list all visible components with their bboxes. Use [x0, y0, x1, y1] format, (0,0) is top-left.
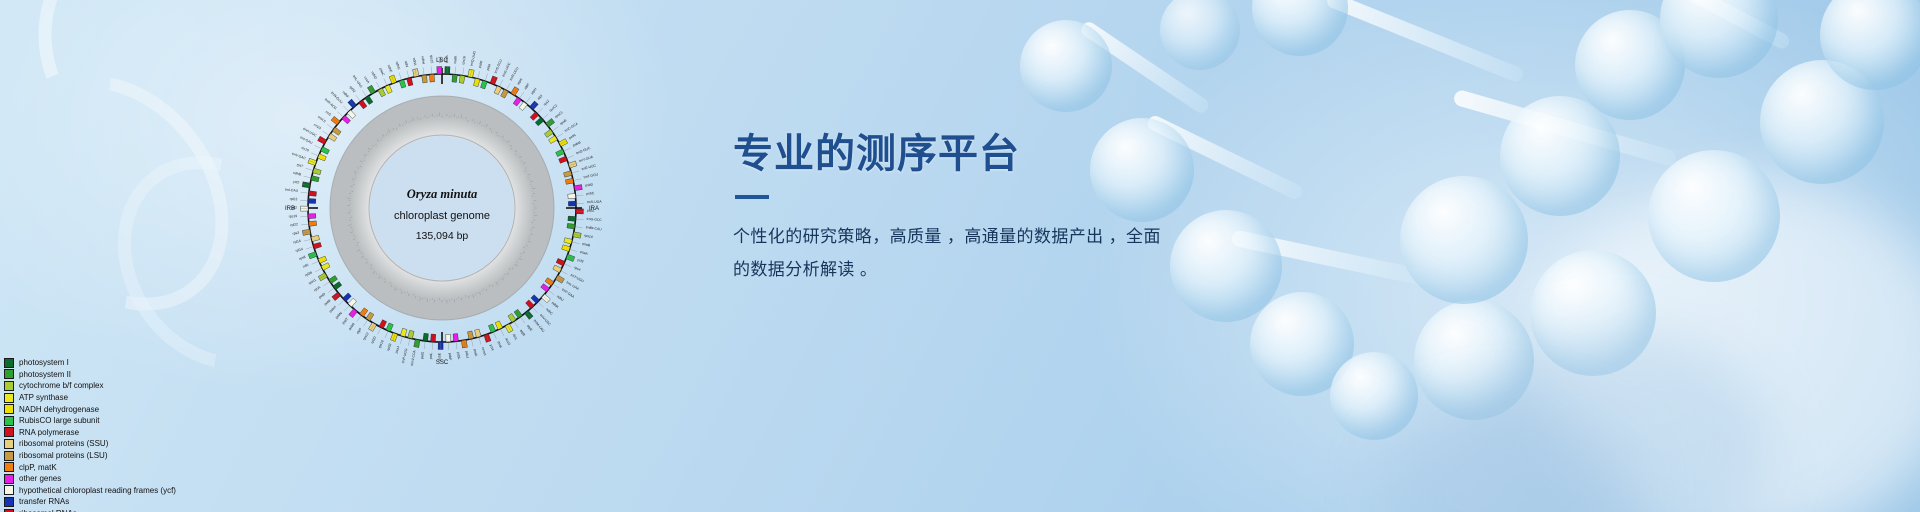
svg-text:chloroplast genome: chloroplast genome	[394, 210, 490, 222]
banner-copy: 专业的测序平台 个性化的研究策略，高质量 ，高通量的数据产出 ，全面 的数据分析…	[733, 132, 1433, 286]
genome-gene-label: ndhK	[551, 301, 560, 310]
genome-gene-label: ccsA	[363, 76, 371, 85]
genome-feature-box	[562, 245, 571, 252]
genome-leader-line	[304, 176, 311, 178]
legend-item: ribosomal RNAs	[4, 508, 334, 512]
genome-gene-label: rpoA	[313, 285, 322, 293]
genome-leader-line	[543, 114, 548, 119]
genome-feature-box	[400, 328, 407, 337]
legend-swatch-icon	[4, 497, 14, 507]
genome-gene-label: petG	[420, 351, 425, 359]
genome-gene-label: matK	[453, 55, 458, 64]
genome-feature-box	[408, 330, 414, 338]
legend-swatch-icon	[4, 462, 14, 472]
genome-gene-label: psbT	[341, 317, 349, 325]
genome-gene-label: ycf4	[489, 344, 495, 351]
genome-leader-line	[520, 92, 524, 98]
genome-gene-label: ndhJ	[556, 294, 565, 302]
legend-swatch-icon	[4, 439, 14, 449]
genome-feature-box	[467, 331, 473, 339]
genome-leader-line	[526, 97, 530, 102]
genome-leader-line	[343, 106, 348, 111]
genome-feature-box	[423, 333, 429, 341]
genome-feature-box	[567, 223, 575, 229]
genome-gene-label: rps4	[574, 265, 582, 271]
genome-feature-box	[431, 334, 436, 342]
genome-leader-line	[564, 148, 570, 151]
genome-leader-line	[573, 242, 580, 244]
genome-leader-line	[306, 247, 313, 249]
genome-feature-box	[318, 256, 327, 263]
legend-swatch-icon	[4, 427, 14, 437]
genome-gene-label: rpl22	[290, 222, 298, 227]
genome-gene-label: trnY-GUA	[579, 155, 595, 164]
genome-gene-label: trnD-GUC	[576, 146, 592, 155]
genome-leader-line	[328, 288, 334, 292]
svg-text:Oryza minuta: Oryza minuta	[407, 187, 478, 201]
banner-subtext: 个性化的研究策略，高质量 ，高通量的数据产出 ，全面 的数据分析解读 。	[733, 220, 1263, 286]
page-title: 专业的测序平台	[733, 132, 1433, 176]
genome-gene-label: trnT-GGU	[583, 172, 599, 179]
genome-feature-box	[564, 238, 572, 244]
genome-gene-label: rrn16	[301, 146, 310, 153]
legend-item-label: photosystem II	[19, 370, 71, 379]
genome-gene-label: ndhC	[545, 307, 554, 316]
legend-item-label: RubisCO large subunit	[19, 416, 99, 425]
genome-gene-label: psaA	[580, 250, 589, 256]
banner-subtext-line1: 个性化的研究策略，高质量 ，高通量的数据产出 ，全面	[733, 227, 1161, 246]
genome-gene-label: atpH	[530, 87, 538, 96]
genome-leader-line	[501, 329, 504, 335]
genome-gene-label: rps2	[543, 99, 551, 107]
genome-gene-label: rpoC1	[554, 110, 564, 119]
genome-gene-label: rps19	[289, 214, 298, 219]
genome-gene-label: psbB	[348, 322, 356, 331]
banner-subtext-line2: 的数据分析解读 。	[733, 260, 877, 279]
genome-leader-line	[500, 80, 503, 86]
genome-leader-line	[538, 108, 543, 113]
genome-gene-label: atpF	[523, 82, 530, 90]
genome-gene-label: rpl33	[386, 343, 392, 352]
genome-leader-line	[378, 328, 381, 334]
legend-item-label: clpP, matK	[19, 463, 57, 472]
genome-gene-label: trnW-CCA	[410, 349, 417, 366]
genome-feature-box	[407, 78, 413, 86]
genome-feature-box	[313, 242, 322, 249]
genome-gene-label: rpl16	[293, 239, 301, 245]
genome-leader-line	[323, 131, 329, 135]
legend-item: transfer RNAs	[4, 496, 334, 508]
genome-feature-box	[565, 178, 573, 184]
genome-leader-line	[424, 342, 425, 349]
genome-gene-label: rps16	[461, 56, 466, 65]
genome-leader-line	[304, 239, 311, 241]
sequencing-platform-banner: psbAmatKrps16trnQ-UUGpsbKpsbItrnS-GCUtrn…	[0, 0, 1920, 512]
genome-leader-line	[561, 271, 567, 274]
svg-text:135,094 bp: 135,094 bp	[416, 230, 469, 242]
genome-gene-label: psaJ	[394, 345, 400, 353]
genome-leader-line	[576, 195, 583, 196]
genome-leader-line	[567, 155, 574, 158]
genome-gene-label: petN	[568, 133, 577, 140]
genome-gene-label: rps8	[299, 255, 307, 261]
genome-gene-label: clpP	[356, 327, 363, 335]
genome-leader-line	[357, 316, 361, 322]
genome-gene-label: ycf3	[577, 258, 584, 264]
genome-leader-line	[338, 112, 343, 117]
genome-gene-label: trnC-GCA	[564, 121, 579, 133]
svg-text:IRB: IRB	[285, 206, 295, 212]
legend-item-label: ribosomal proteins (LSU)	[19, 451, 107, 460]
genome-feature-box	[386, 323, 393, 332]
genome-leader-line	[311, 153, 317, 156]
genome-feature-box	[452, 74, 457, 82]
genome-feature-box	[556, 258, 565, 265]
genome-feature-box	[318, 154, 327, 161]
genome-gene-label: psbK	[478, 59, 484, 68]
genome-leader-line	[456, 342, 457, 349]
legend-swatch-icon	[4, 451, 14, 461]
genome-gene-label: ndhE	[387, 64, 394, 74]
genome-gene-label: rps7	[296, 163, 304, 169]
genome-gene-label: rps18	[378, 339, 385, 348]
genome-leader-line	[507, 83, 510, 89]
genome-gene-label: trnV-GAC	[291, 152, 307, 161]
legend-swatch-icon	[4, 381, 14, 391]
genome-feature-box	[488, 324, 495, 333]
legend-item-label: transfer RNAs	[19, 497, 69, 506]
genome-gene-label: rps12	[362, 332, 370, 341]
legend-swatch-icon	[4, 416, 14, 426]
legend-item-label: RNA polymerase	[19, 428, 79, 437]
genome-gene-label: atpE	[526, 324, 534, 333]
genome-leader-line	[385, 332, 388, 338]
genome-gene-label: rrn5	[325, 110, 332, 117]
genome-feature-box	[385, 85, 392, 94]
legend-item: NADH dehydrogenase	[4, 403, 334, 415]
genome-feature-box	[564, 171, 572, 177]
genome-leader-line	[301, 192, 308, 193]
legend-item: RNA polymerase	[4, 427, 334, 439]
genome-gene-label: trnQ-UUG	[470, 50, 477, 66]
title-underline-rule	[735, 195, 769, 199]
genome-gene-label: psbH	[328, 305, 337, 314]
legend-item-label: other genes	[19, 474, 61, 483]
genome-leader-line	[306, 168, 313, 170]
genome-feature-box	[494, 86, 501, 95]
genome-gene-label: atpA	[516, 77, 523, 86]
genome-gene-label: trnR-ACG	[324, 97, 338, 110]
genome-leader-line	[478, 71, 480, 78]
svg-text:SSC: SSC	[436, 360, 449, 366]
genome-leader-line	[323, 282, 329, 286]
genome-leader-line	[407, 70, 409, 77]
genome-gene-label: accD	[504, 337, 511, 346]
genome-gene-label: trnS-UGA	[587, 200, 603, 205]
legend-item: clpP, matK	[4, 461, 334, 473]
genome-gene-label: trnI-GAU	[299, 135, 313, 145]
legend-swatch-icon	[4, 485, 14, 495]
svg-text:LSC: LSC	[436, 58, 448, 64]
genome-leader-line	[376, 82, 379, 88]
genome-gene-label: rpl23	[290, 197, 298, 201]
genome-leader-line	[576, 227, 583, 228]
genome-feature-box	[473, 78, 479, 86]
legend-item-label: NADH dehydrogenase	[19, 405, 99, 414]
genome-gene-label: rpl20	[370, 336, 377, 345]
legend-item-label: hypothetical chloroplast reading frames …	[19, 486, 176, 495]
genome-leader-line	[356, 95, 360, 101]
chloroplast-genome-map: psbAmatKrps16trnQ-UUGpsbKpsbItrnS-GCUtrn…	[242, 8, 642, 408]
genome-leader-line	[423, 67, 424, 74]
genome-gene-label: rps15	[429, 55, 434, 64]
genome-feature-box	[480, 80, 487, 89]
genome-leader-line	[408, 339, 410, 346]
genome-leader-line	[301, 224, 308, 225]
svg-text:IRA: IRA	[589, 206, 599, 212]
genome-leader-line	[553, 284, 559, 288]
genome-leader-line	[485, 74, 487, 81]
genome-leader-line	[327, 124, 333, 128]
genome-gene-label: psbF	[448, 353, 452, 361]
genome-gene-label: psbI	[486, 64, 492, 71]
genome-feature-box	[568, 193, 576, 198]
genome-gene-label: ndhG	[395, 61, 401, 70]
genome-gene-label: trnfM-CAU	[585, 225, 602, 231]
genome-feature-box	[311, 235, 319, 241]
genome-gene-label: psaI	[497, 341, 503, 349]
legend-item-label: photosystem I	[19, 358, 69, 367]
genome-gene-label: rpl32	[349, 85, 357, 94]
genome-gene-label: atpI	[537, 94, 544, 101]
genome-feature-box	[556, 149, 565, 156]
genome-gene-label: rbcL	[512, 333, 519, 341]
genome-leader-line	[315, 145, 321, 148]
genome-feature-box	[308, 214, 316, 219]
genome-gene-label: rpoB	[559, 118, 568, 126]
genome-gene-label: ndhF	[342, 90, 350, 98]
legend-item-label: ATP synthase	[19, 393, 68, 402]
legend-item: other genes	[4, 473, 334, 485]
genome-feature-box	[313, 168, 322, 175]
genome-gene-label: ndhB	[293, 171, 302, 177]
genome-gene-label: trnI-CAU	[285, 188, 299, 193]
legend-item: ribosomal proteins (SSU)	[4, 438, 334, 450]
genome-gene-label: rpl14	[295, 247, 303, 253]
genome-leader-line	[400, 337, 402, 344]
genome-feature-box	[399, 80, 406, 89]
genome-gene-label: trnP-UGG	[401, 348, 409, 364]
legend-item: ribosomal proteins (LSU)	[4, 450, 334, 462]
genome-feature-box	[559, 156, 568, 163]
genome-leader-line	[344, 306, 349, 311]
genome-leader-line	[363, 320, 367, 326]
legend-item-label: ribosomal proteins (SSU)	[19, 439, 108, 448]
genome-gene-label: rpl36	[304, 270, 313, 277]
genome-leader-line	[399, 73, 401, 80]
genome-gene-label: ycf2	[293, 180, 300, 185]
genome-leader-line	[549, 291, 555, 295]
genome-gene-label: rrn4.5	[317, 115, 327, 124]
genome-gene-label: petD	[318, 292, 327, 300]
genome-leader-line	[570, 250, 577, 252]
legend-swatch-icon	[4, 474, 14, 484]
genome-leader-line	[553, 127, 559, 131]
legend-swatch-icon	[4, 404, 14, 414]
genome-gene-label: rpoC2	[549, 103, 559, 112]
genome-feature-box	[568, 216, 576, 221]
genome-gene-label: trnG-GCC	[586, 217, 602, 222]
legend-swatch-icon	[4, 358, 14, 368]
genome-leader-line	[533, 308, 538, 313]
genome-feature-box	[475, 329, 482, 337]
genome-gene-label: rps11	[308, 278, 317, 286]
genome-feature-box	[568, 201, 576, 206]
legend-item: RubisCO large subunit	[4, 415, 334, 427]
genome-leader-line	[472, 340, 474, 347]
legend-item: ATP synthase	[4, 392, 334, 404]
genome-leader-line	[338, 300, 343, 305]
genome-gene-label: petA	[473, 349, 479, 357]
genome-gene-label: psaC	[378, 67, 385, 76]
genome-feature-box	[422, 75, 428, 83]
genome-leader-line	[572, 171, 579, 173]
genome-feature-box	[459, 75, 465, 83]
genome-gene-label: trnE-UUC	[581, 163, 597, 171]
genome-gene-label: atpB	[519, 329, 527, 338]
genome-leader-line	[431, 66, 432, 73]
genome-gene-label: trnS-GCU	[494, 58, 503, 74]
genome-leader-line	[557, 134, 563, 138]
genome-legend: photosystem Iphotosystem IIcytochrome b/…	[4, 357, 334, 512]
genome-gene-label: ndhD	[370, 71, 378, 81]
genome-gene-label: ndhI	[404, 60, 410, 67]
genome-gene-label: cemA	[481, 347, 487, 357]
genome-feature-box	[311, 176, 319, 182]
genome-leader-line	[494, 333, 497, 339]
legend-item: photosystem II	[4, 369, 334, 381]
genome-leader-line	[384, 78, 387, 84]
genome-gene-label: rps14	[584, 233, 593, 239]
genome-gene-label: rps3	[292, 231, 299, 236]
genome-leader-line	[521, 318, 525, 324]
genome-gene-label: psbL	[456, 352, 461, 360]
legend-item: photosystem I	[4, 357, 334, 369]
genome-leader-line	[315, 269, 321, 272]
legend-swatch-icon	[4, 393, 14, 403]
genome-gene-label: rrn23	[313, 123, 322, 131]
genome-gene-label: psbM	[572, 140, 581, 147]
genome-leader-line	[479, 338, 481, 345]
genome-leader-line	[565, 264, 571, 267]
legend-item: hypothetical chloroplast reading frames …	[4, 485, 334, 497]
legend-item: cytochrome b/f complex	[4, 380, 334, 392]
genome-leader-line	[362, 90, 366, 96]
legend-swatch-icon	[4, 509, 14, 512]
genome-leader-line	[455, 67, 456, 74]
genome-gene-label: psaB	[582, 242, 591, 248]
genome-leader-line	[514, 322, 518, 328]
legend-swatch-icon	[4, 369, 14, 379]
genome-gene-label: psbC	[586, 191, 595, 196]
genome-feature-box	[309, 221, 317, 227]
genome-feature-box	[308, 198, 316, 203]
genome-gene-label: petL	[429, 352, 433, 359]
genome-gene-label: psbN	[335, 311, 344, 320]
genome-leader-line	[577, 219, 584, 220]
genome-gene-label: petB	[323, 298, 331, 306]
genome-feature-box	[309, 191, 317, 196]
genome-gene-label: infA	[302, 262, 310, 268]
genome-feature-box	[453, 334, 458, 342]
genome-leader-line	[574, 179, 581, 180]
genome-leader-line	[463, 68, 464, 75]
genome-gene-label: ndhA	[412, 57, 418, 66]
genome-gene-label: psbD	[585, 182, 594, 187]
legend-item-label: cytochrome b/f complex	[19, 381, 103, 390]
genome-feature-box	[446, 334, 451, 342]
gc-content-tick	[504, 276, 505, 277]
genome-leader-line	[539, 302, 544, 307]
genome-leader-line	[312, 262, 318, 265]
genome-gene-label: psbJ	[465, 351, 470, 359]
genome-gene-label: ndhH	[421, 56, 426, 65]
genome-feature-box	[429, 74, 434, 82]
